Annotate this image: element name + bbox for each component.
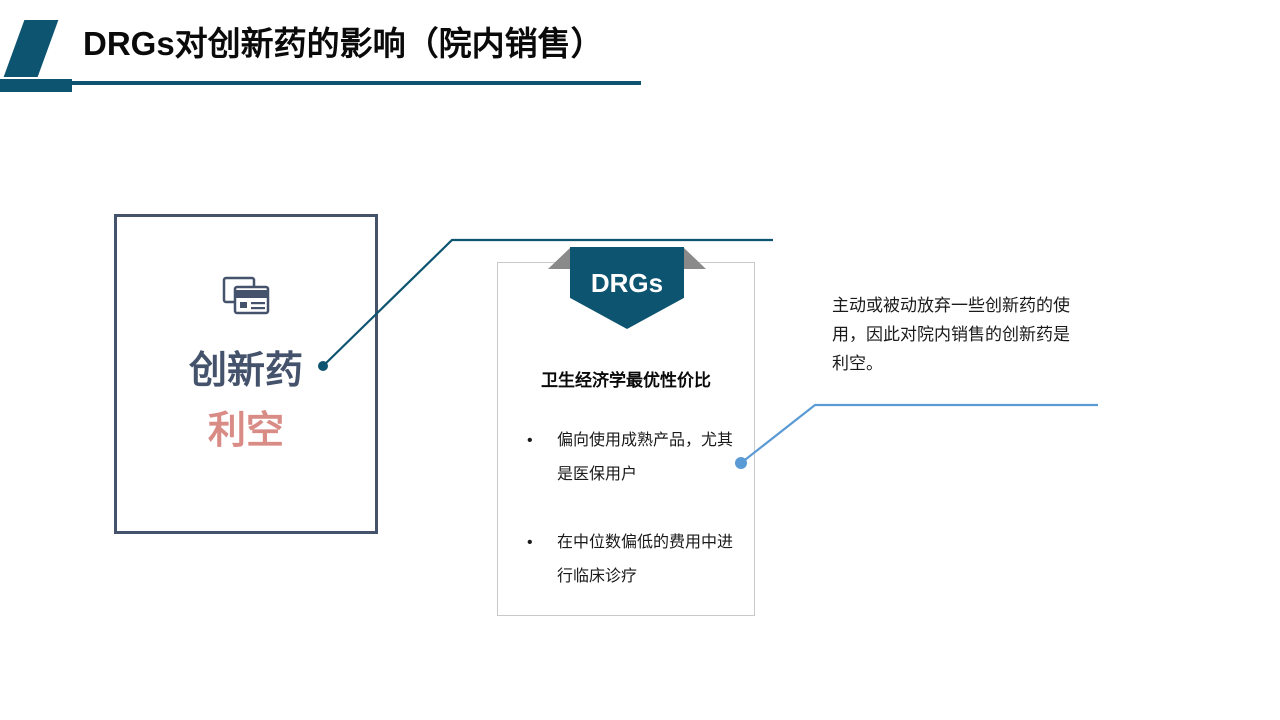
bullet-marker-icon: • — [527, 424, 557, 458]
right-conclusion-text: 主动或被动放弃一些创新药的使用，因此对院内销售的创新药是利空。 — [832, 291, 1076, 378]
title-slash-decoration — [4, 20, 59, 77]
left-label-secondary: 利空 — [114, 408, 378, 454]
list-item: • 偏向使用成熟产品，尤其是医保用户 — [527, 424, 742, 492]
ribbon-wing-right-decoration — [683, 247, 706, 269]
title-bar-thin-decoration — [72, 81, 641, 85]
bullet-list: • 偏向使用成熟产品，尤其是医保用户 • 在中位数偏低的费用中进行临床诊疗 — [527, 424, 742, 628]
left-label-primary: 创新药 — [114, 348, 378, 394]
bullet-text: 在中位数偏低的费用中进行临床诊疗 — [557, 526, 742, 594]
ribbon-wing-left-decoration — [548, 247, 571, 269]
credit-cards-icon — [222, 276, 270, 320]
drgs-ribbon-label: DRGs — [570, 268, 684, 298]
right-connector-line — [741, 405, 1098, 463]
title-bar-thick-decoration — [0, 79, 72, 92]
list-item: • 在中位数偏低的费用中进行临床诊疗 — [527, 526, 742, 594]
center-heading: 卫生经济学最优性价比 — [497, 369, 755, 393]
bullet-marker-icon: • — [527, 526, 557, 560]
page-title: DRGs对创新药的影响（院内销售） — [83, 22, 604, 66]
bullet-text: 偏向使用成熟产品，尤其是医保用户 — [557, 424, 742, 492]
slide-canvas: DRGs对创新药的影响（院内销售） 创新药 利空 DRGs 卫生经济学最优性价比… — [0, 0, 1280, 720]
